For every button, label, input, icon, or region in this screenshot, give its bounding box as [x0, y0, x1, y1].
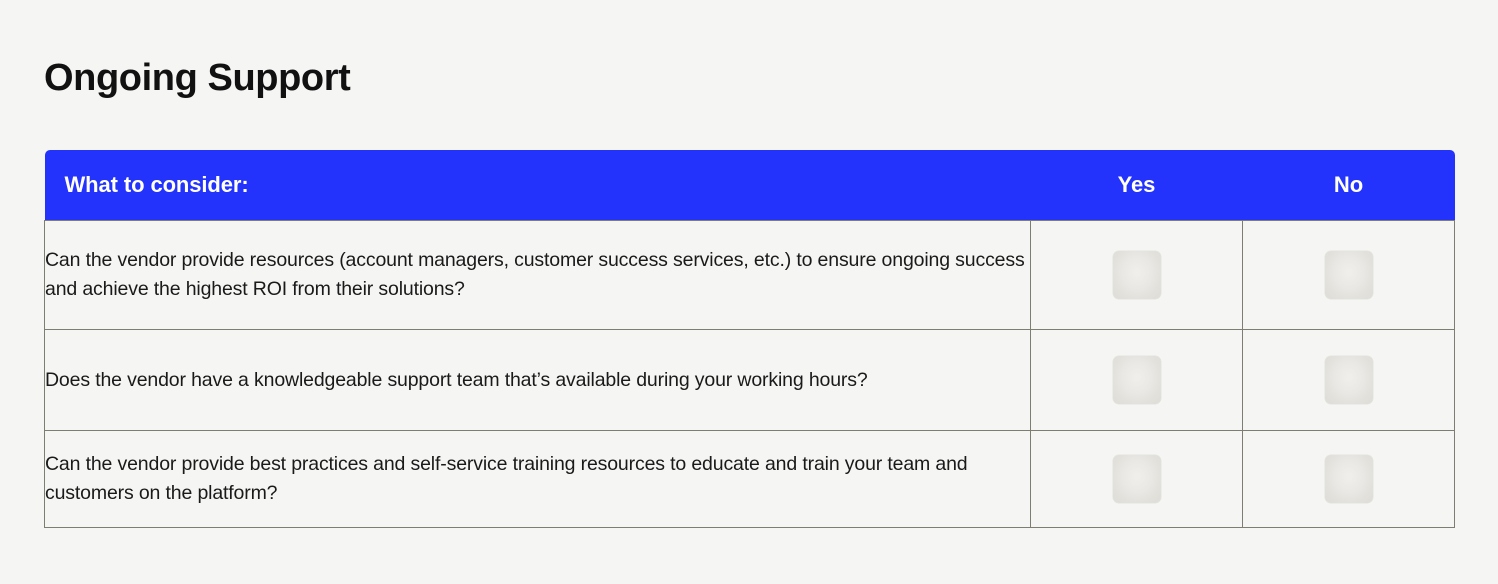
- ongoing-support-checklist-table: What to consider: Yes No Can the vendor …: [44, 150, 1455, 528]
- answer-cell-no[interactable]: [1243, 431, 1455, 528]
- table-row: Can the vendor provide resources (accoun…: [45, 221, 1455, 330]
- table-row: Does the vendor have a knowledgeable sup…: [45, 330, 1455, 431]
- checkbox-no-row-2[interactable]: [1325, 356, 1373, 404]
- answer-cell-yes[interactable]: [1031, 431, 1243, 528]
- checkbox-yes-row-2[interactable]: [1113, 356, 1161, 404]
- checkbox-yes-row-3[interactable]: [1113, 455, 1161, 503]
- column-header-what-to-consider: What to consider:: [45, 150, 1031, 221]
- checkbox-no-row-1[interactable]: [1325, 251, 1373, 299]
- answer-cell-no[interactable]: [1243, 330, 1455, 431]
- answer-cell-no[interactable]: [1243, 221, 1455, 330]
- column-header-yes: Yes: [1031, 150, 1243, 221]
- answer-cell-yes[interactable]: [1031, 330, 1243, 431]
- checklist-page: Ongoing Support What to consider: Yes No…: [0, 0, 1498, 584]
- table-header: What to consider: Yes No: [45, 150, 1455, 221]
- table-body: Can the vendor provide resources (accoun…: [45, 221, 1455, 528]
- table-row: Can the vendor provide best practices an…: [45, 431, 1455, 528]
- answer-cell-yes[interactable]: [1031, 221, 1243, 330]
- checkbox-yes-row-1[interactable]: [1113, 251, 1161, 299]
- checkbox-no-row-3[interactable]: [1325, 455, 1373, 503]
- page-title: Ongoing Support: [44, 58, 350, 100]
- question-text: Can the vendor provide best practices an…: [45, 431, 1031, 528]
- table-header-row: What to consider: Yes No: [45, 150, 1455, 221]
- question-text: Does the vendor have a knowledgeable sup…: [45, 330, 1031, 431]
- column-header-no: No: [1243, 150, 1455, 221]
- question-text: Can the vendor provide resources (accoun…: [45, 221, 1031, 330]
